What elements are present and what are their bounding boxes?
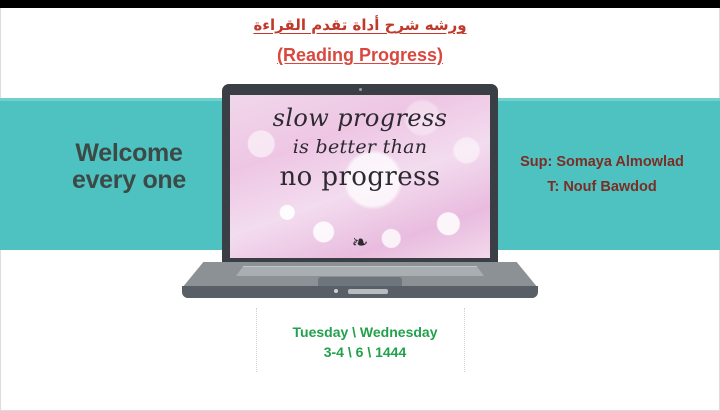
quote-line-3: no progress	[230, 161, 490, 194]
date-numbers: 3-4 \ 6 \ 1444	[255, 342, 475, 362]
date-days: Tuesday \ Wednesday	[255, 322, 475, 342]
presentation-slide: ورشه شرح أداة تقدم القراءة (Reading Prog…	[0, 0, 720, 411]
webcam-icon	[359, 88, 362, 91]
screen-quote: slow progress is better than no progress	[230, 103, 490, 194]
laptop-illustration: slow progress is better than no progress…	[182, 84, 538, 296]
title-english: (Reading Progress)	[0, 42, 720, 68]
laptop-screen: slow progress is better than no progress…	[230, 95, 490, 258]
quote-line-1: slow progress	[230, 103, 490, 133]
laptop-latch	[348, 289, 388, 294]
laptop-status-led-icon	[334, 289, 338, 293]
flourish-ornament-icon: ❧	[230, 233, 490, 253]
slide-title-block: ورشه شرح أداة تقدم القراءة (Reading Prog…	[0, 14, 720, 68]
laptop-keyboard	[236, 266, 484, 276]
laptop-lid: slow progress is better than no progress…	[222, 84, 498, 264]
top-black-bar	[0, 0, 720, 8]
quote-line-2: is better than	[230, 133, 490, 161]
title-arabic: ورشه شرح أداة تقدم القراءة	[0, 14, 720, 36]
date-block: Tuesday \ Wednesday 3-4 \ 6 \ 1444	[255, 322, 475, 362]
